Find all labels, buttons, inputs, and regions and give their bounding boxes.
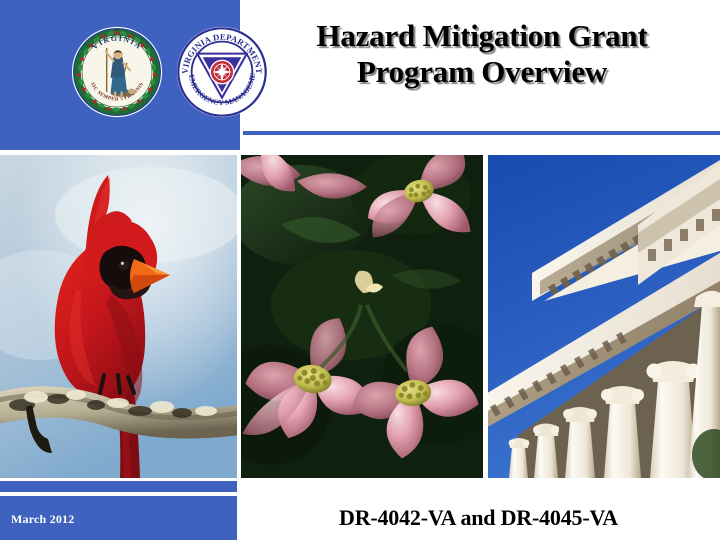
- title-slide: VIRGINIA SIC SEMPER TYRANNIS: [0, 0, 720, 540]
- seal-of-virginia-icon: VIRGINIA SIC SEMPER TYRANNIS: [71, 26, 163, 118]
- flowering-dogwood-photo: [241, 155, 483, 478]
- northern-cardinal-photo: [0, 155, 237, 478]
- page-subtitle: DR-4042-VA and DR-4045-VA: [237, 497, 720, 539]
- page-title-line-2: Program Overview: [248, 54, 716, 90]
- page-title: Hazard Mitigation Grant Program Overview: [248, 18, 716, 90]
- footer-accent-bar: [0, 481, 237, 492]
- page-title-line-1: Hazard Mitigation Grant: [248, 18, 716, 54]
- title-divider-rule: [243, 131, 720, 135]
- virginia-state-capitol-photo: [488, 155, 720, 478]
- presentation-date: March 2012: [11, 512, 74, 527]
